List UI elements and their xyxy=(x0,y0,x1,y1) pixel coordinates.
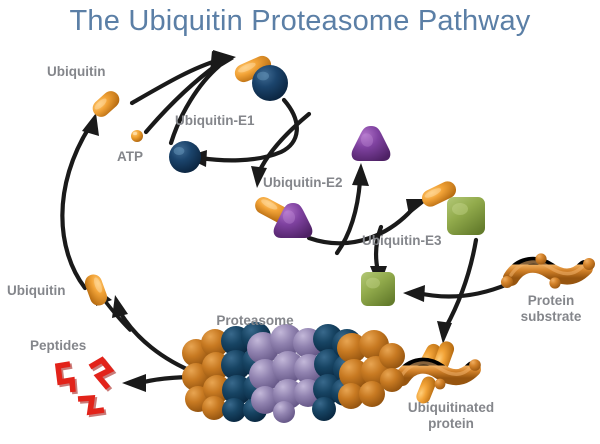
proteasome-cap-right xyxy=(337,330,405,409)
arrow-ubiquitin-recycle-up xyxy=(62,113,99,288)
arrow-ubiquitin-e1-recycle xyxy=(185,100,297,167)
arrow-e3-to-ubiquitinated xyxy=(437,240,476,344)
pathway-figure: The Ubiquitin Proteasome Pathway xyxy=(0,0,600,444)
atp-molecule xyxy=(131,130,143,142)
arrow-substrate-to-e3 xyxy=(403,284,508,302)
label-ubiquitin-top: Ubiquitin xyxy=(47,64,105,79)
ubiquitin-e1-complex xyxy=(232,53,288,101)
label-atp: ATP xyxy=(117,149,143,164)
label-proteasome: Proteasome xyxy=(216,313,294,328)
peptide-fragment xyxy=(78,398,106,414)
e1-enzyme-sphere xyxy=(252,65,288,101)
label-ubiquitin-left: Ubiquitin xyxy=(7,283,65,298)
label-ubiquitinated-protein-line1: Ubiquitinated xyxy=(408,400,494,415)
label-ubiquitinated-protein-line2: protein xyxy=(428,416,474,431)
ubiquitin-e3-complex xyxy=(419,178,485,235)
e3-enzyme-free xyxy=(361,272,395,306)
label-ubiquitin-e3: Ubiquitin-E3 xyxy=(362,233,442,248)
e2-enzyme-free xyxy=(352,126,391,161)
peptide-fragment xyxy=(58,364,75,394)
label-protein-substrate-line1: Protein xyxy=(528,293,575,308)
label-ubiquitin-e1: Ubiquitin-E1 xyxy=(175,113,255,128)
page-title: The Ubiquitin Proteasome Pathway xyxy=(70,5,531,37)
proteasome xyxy=(182,322,405,423)
e1-enzyme-free xyxy=(169,141,201,173)
ubiquitinated-protein xyxy=(392,339,481,405)
label-peptides: Peptides xyxy=(30,338,86,353)
peptide-fragment xyxy=(90,360,112,390)
label-ubiquitin-e2: Ubiquitin-E2 xyxy=(263,175,343,190)
label-protein-substrate-line2: substrate xyxy=(521,309,582,324)
protein-substrate xyxy=(501,253,595,288)
ubiquitin-e2-complex xyxy=(252,194,312,238)
arrow-proteasome-to-ubiquitin xyxy=(112,295,196,373)
peptides xyxy=(58,360,112,414)
